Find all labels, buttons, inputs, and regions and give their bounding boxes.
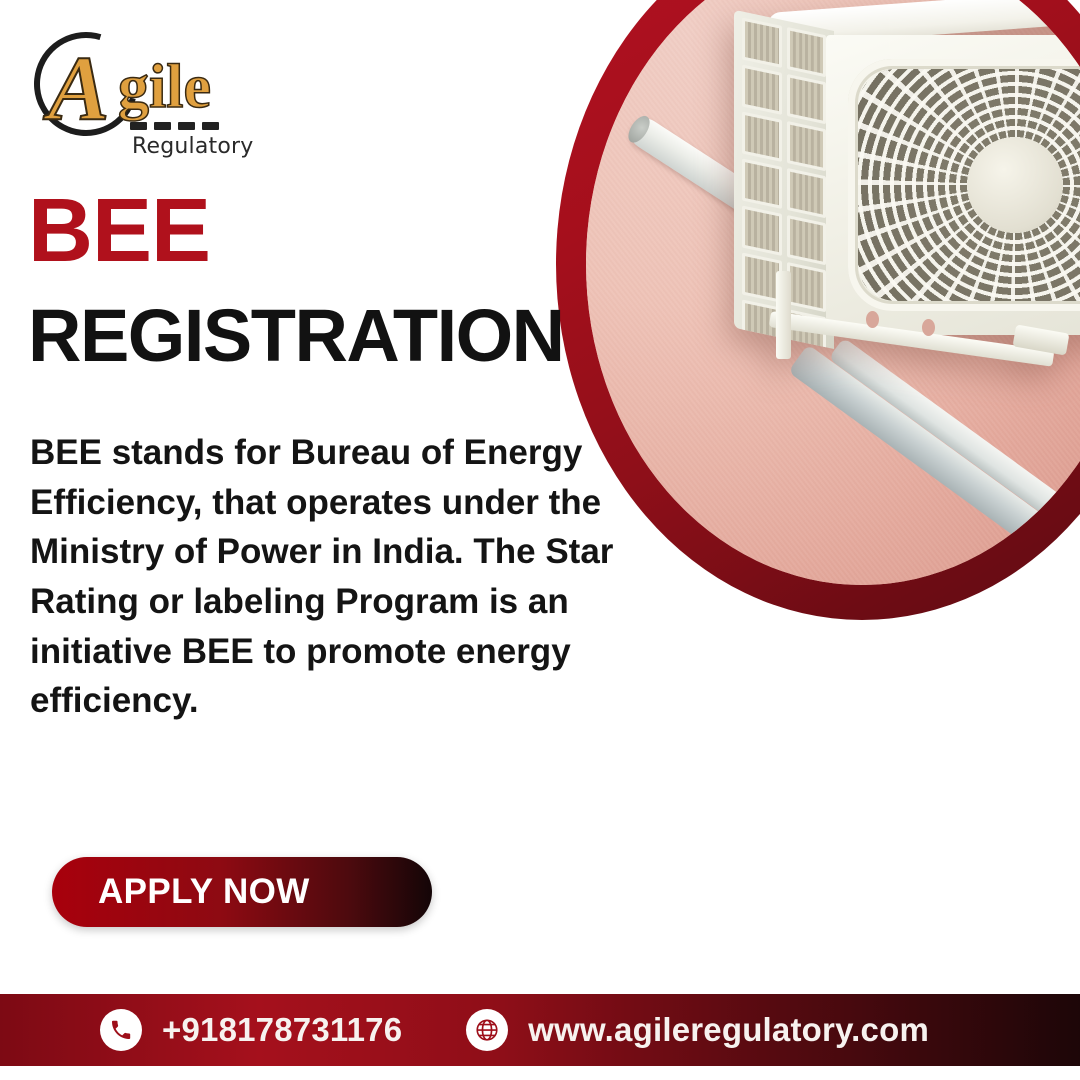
bracket-hole xyxy=(922,319,935,336)
footer-website-item[interactable]: www.agileregulatory.com xyxy=(466,1009,929,1051)
ac-unit-side-grille xyxy=(734,10,834,349)
conduit-pipe-lower-back xyxy=(788,344,1080,583)
brand-logo[interactable]: A gile Regulatory xyxy=(26,26,236,148)
conduit-pipe-upper xyxy=(626,113,886,296)
page-title-primary: BEE xyxy=(28,188,210,274)
footer-website-url: www.agileregulatory.com xyxy=(528,1011,929,1049)
side-grille-cells xyxy=(742,17,826,337)
ac-fan-grille-spokes xyxy=(858,69,1080,301)
apply-now-button[interactable]: APPLY NOW xyxy=(52,857,432,927)
conduit-pipe-lower-front xyxy=(828,337,1080,570)
body-paragraph: BEE stands for Bureau of Energy Efficien… xyxy=(30,428,640,726)
logo-subtitle: Regulatory xyxy=(132,134,254,159)
ac-wall-bracket xyxy=(770,305,1070,367)
ac-unit-front-panel xyxy=(826,35,1080,335)
footer-phone-item[interactable]: +918178731176 xyxy=(100,1009,402,1051)
footer-phone-number: +918178731176 xyxy=(162,1011,402,1049)
logo-wordmark: gile xyxy=(118,56,211,118)
ac-unit-top-panel xyxy=(768,0,1080,47)
ac-fan-frame xyxy=(848,59,1080,311)
ac-outdoor-unit xyxy=(734,13,1080,343)
bracket-bar xyxy=(769,311,1054,367)
wall-seam xyxy=(829,294,1080,314)
logo-letter-a: A xyxy=(48,42,109,134)
poster-canvas: A gile Regulatory BEE REGISTRATION BEE s… xyxy=(0,0,1080,1080)
wall-background xyxy=(586,0,1080,585)
hero-photo-ac-unit xyxy=(586,0,1080,585)
apply-now-label: APPLY NOW xyxy=(98,872,310,912)
globe-icon xyxy=(466,1009,508,1051)
ac-fan-grille-rings xyxy=(858,69,1080,301)
ac-fan-hub xyxy=(967,137,1063,233)
bracket-foot xyxy=(1013,324,1070,355)
page-title-secondary: REGISTRATION xyxy=(28,300,564,371)
contact-footer-bar: +918178731176 www.agileregulatory.com xyxy=(0,994,1080,1066)
logo-dash-rule-icon xyxy=(130,122,219,130)
bracket-hole xyxy=(866,311,879,328)
bracket-leg xyxy=(776,271,791,359)
phone-icon xyxy=(100,1009,142,1051)
